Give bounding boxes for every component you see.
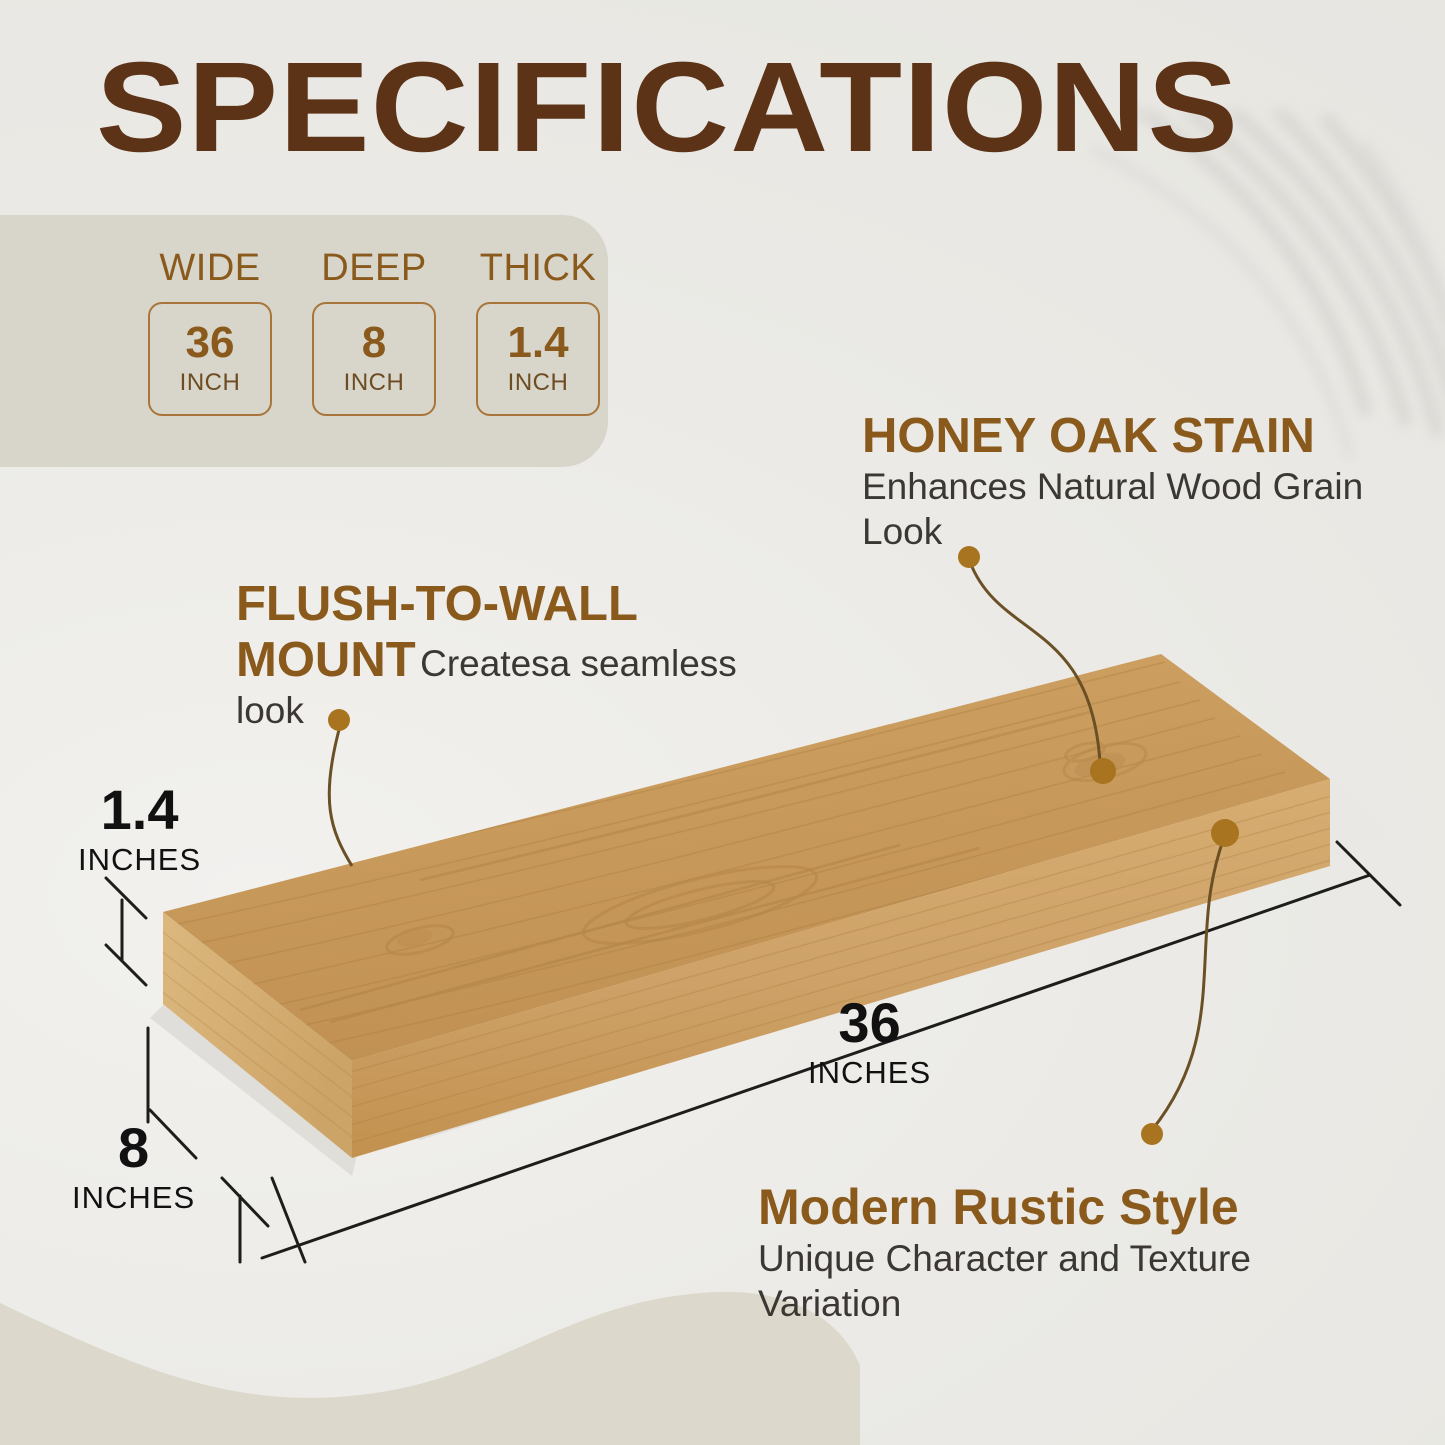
- dimension-value-width: 36: [808, 995, 931, 1051]
- dimension-label-depth: 8 INCHES: [72, 1120, 195, 1216]
- specification-graphic: SPECIFICATIONS WIDE 36 INCH DEEP 8 INCH …: [0, 0, 1445, 1445]
- dimension-label-thickness: 1.4 INCHES: [78, 782, 201, 878]
- dimension-unit-thickness: INCHES: [78, 842, 201, 878]
- dimension-unit-width: INCHES: [808, 1055, 931, 1091]
- callout-title-honey-oak-stain: HONEY OAK STAIN: [862, 409, 1315, 463]
- dimension-value-thickness: 1.4: [78, 782, 201, 838]
- callout-title-modern-rustic-style: Modern Rustic Style: [758, 1179, 1239, 1235]
- dimension-value-depth: 8: [72, 1120, 195, 1176]
- dimension-label-width: 36 INCHES: [808, 995, 931, 1091]
- callout-honey-oak-stain: HONEY OAK STAIN Enhances Natural Wood Gr…: [862, 408, 1402, 554]
- dimension-unit-depth: INCHES: [72, 1180, 195, 1216]
- callout-description-honey-oak-stain: Enhances Natural Wood Grain Look: [862, 466, 1363, 552]
- callout-modern-rustic-style: Modern Rustic Style Unique Character and…: [758, 1178, 1318, 1326]
- callout-flush-to-wall-mount: FLUSH-TO-WALL MOUNT Createsa seamless lo…: [236, 576, 756, 733]
- callout-description-modern-rustic-style: Unique Character and Texture Variation: [758, 1238, 1251, 1324]
